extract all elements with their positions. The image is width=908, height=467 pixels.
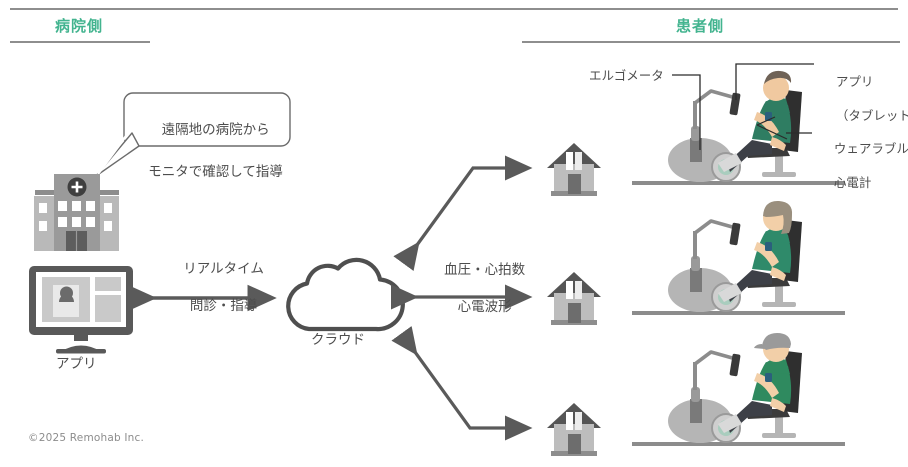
header-patient-side: 患者側 [676, 16, 724, 36]
cloud-label: クラウド [311, 331, 365, 349]
header-hospital-side: 病院側 [55, 16, 103, 36]
annotation-app-line-2: （タブレット） [836, 108, 908, 123]
realtime-label-line-2: 問診・指導 [190, 298, 258, 314]
patient-setup-row-1 [632, 71, 845, 183]
cloud-icon [288, 260, 403, 329]
annotation-wearable-ecg: ウェアラブル 心電計 [818, 124, 908, 208]
hospital-building-icon [34, 174, 119, 251]
speech-bubble-text: 遠隔地の病院から モニタで確認して指導 [128, 99, 286, 204]
header-rules [10, 9, 900, 42]
house-icon-row-1 [547, 143, 601, 196]
annotation-app-line-1: アプリ [836, 74, 874, 89]
annotation-ergometer: エルゴメータ [589, 68, 664, 85]
house-icon-row-3 [547, 403, 601, 456]
diagram-canvas: 病院側 患者側 遠隔地の病院から モニタで確認して指導 アプリ リアルタイム 問… [0, 0, 908, 467]
scene-graphics [0, 0, 908, 467]
copyright-notice: ©2025 Remohab Inc. [28, 431, 144, 445]
house-icon-row-2 [547, 272, 601, 325]
desktop-monitor-icon [29, 266, 133, 354]
vitals-label-line-1: 血圧・心拍数 [444, 262, 525, 278]
vitals-label-line-2: 心電波形 [458, 299, 512, 315]
patient-setup-row-2 [632, 201, 845, 313]
realtime-label-line-1: リアルタイム [183, 261, 264, 277]
speech-bubble-line-1: 遠隔地の病院から [162, 122, 270, 138]
monitor-label: アプリ [56, 355, 97, 373]
speech-bubble-line-2: モニタで確認して指導 [148, 164, 283, 180]
patient-setup-row-3 [632, 333, 845, 444]
vitals-arrow-label: 血圧・心拍数 心電波形 [422, 243, 530, 334]
annotation-ecg-line-2: 心電計 [834, 175, 872, 190]
realtime-arrow-label: リアルタイム 問診・指導 [160, 242, 270, 333]
annotation-ecg-line-1: ウェアラブル [834, 141, 908, 156]
